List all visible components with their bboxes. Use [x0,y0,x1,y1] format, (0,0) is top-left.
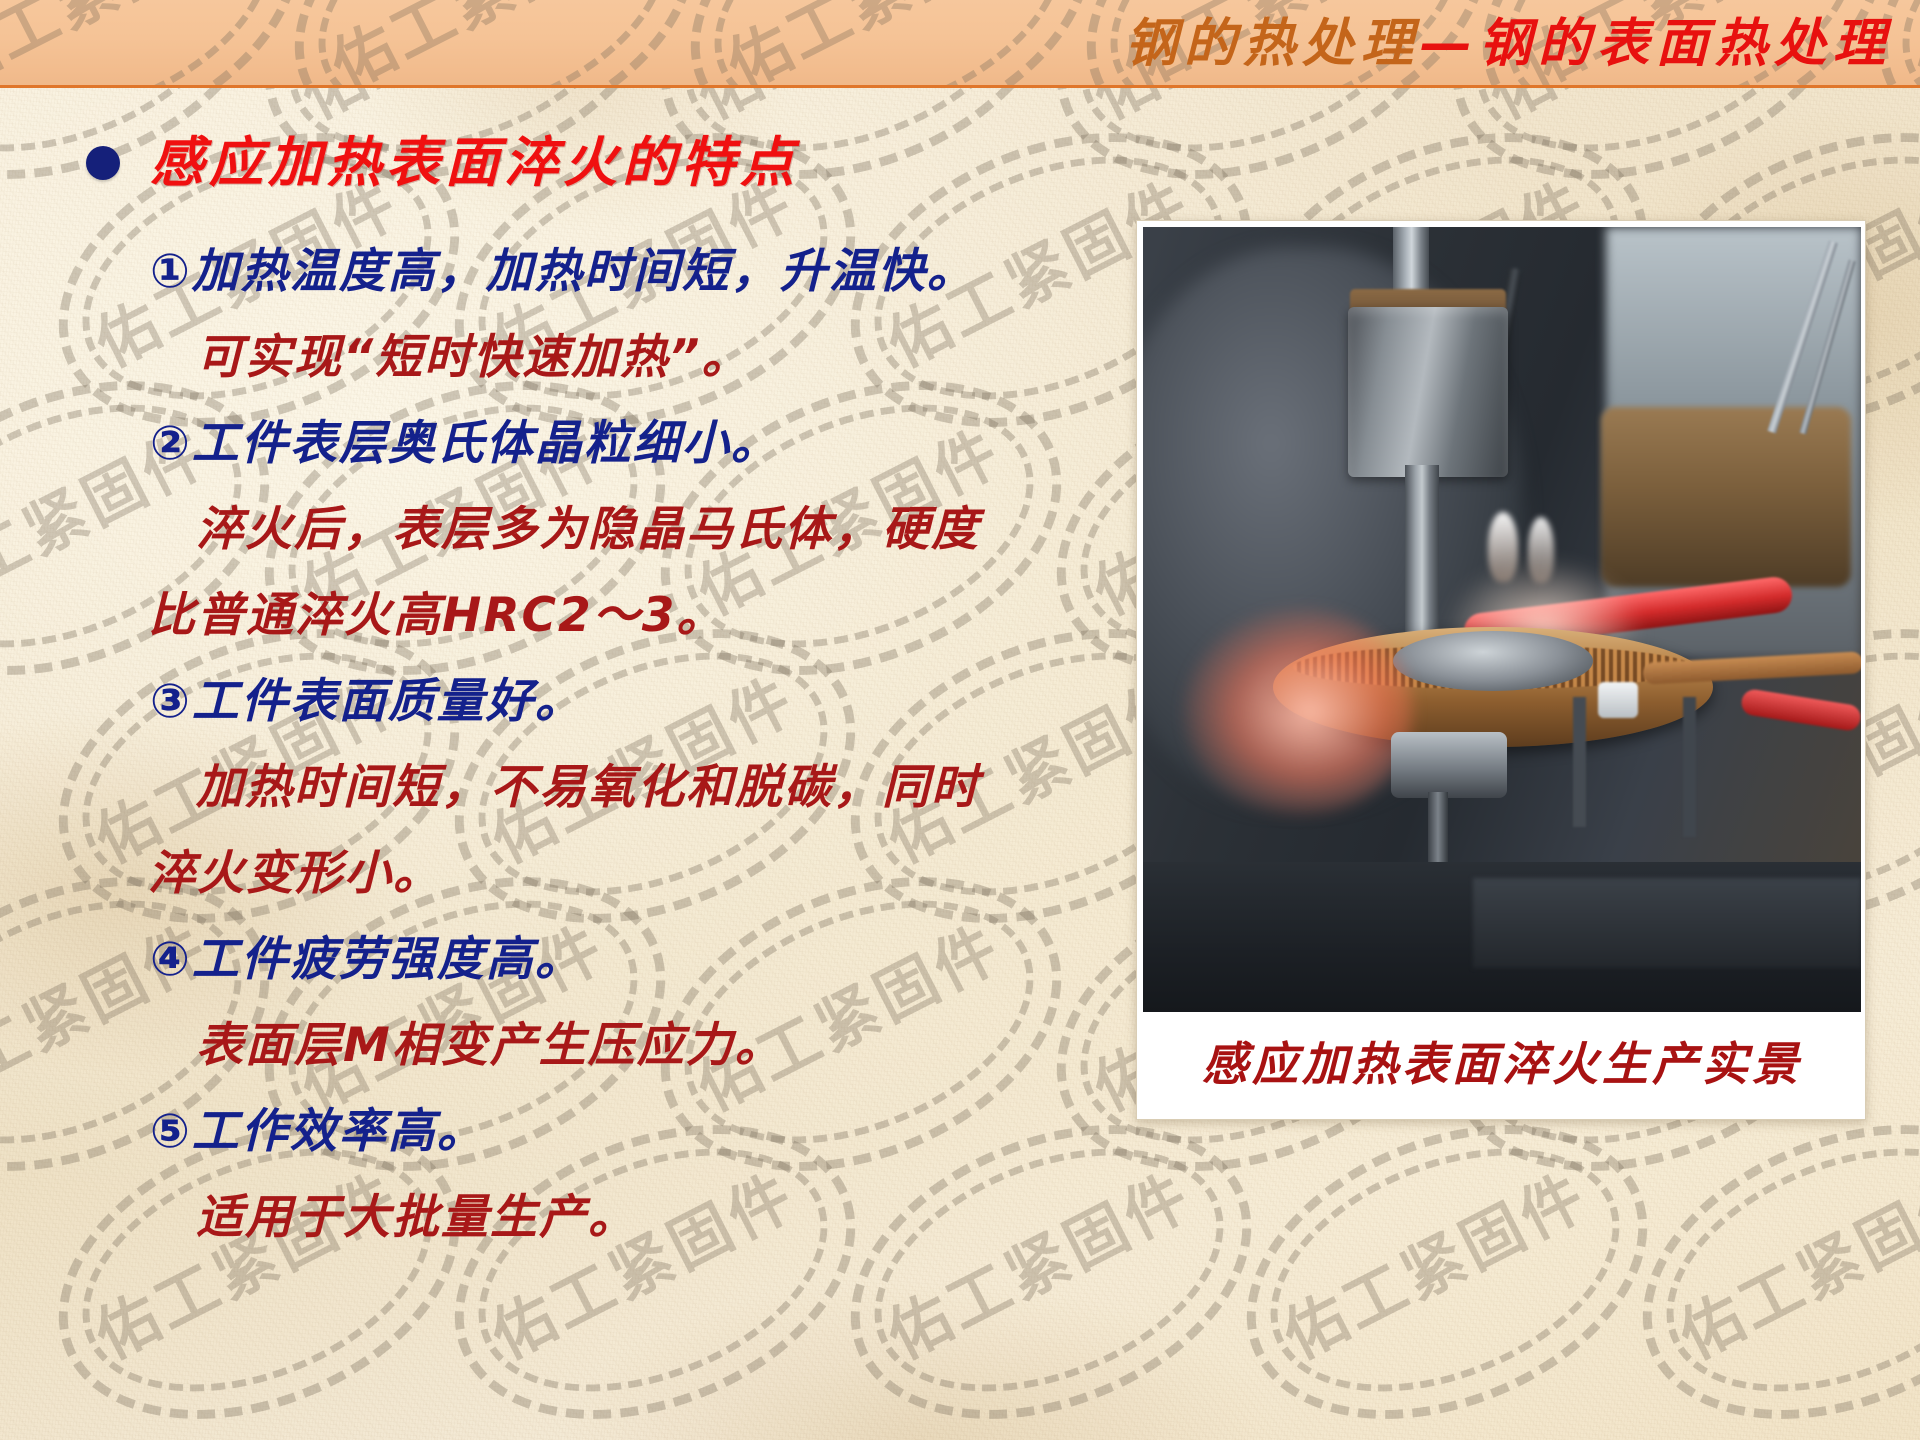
header-title-secondary: —钢的表面热处理 [1420,18,1892,70]
watermark-text: 佑工紧固件 [1898,0,1920,85]
photo-white-cap [1598,682,1638,718]
numbered-item: ④工件疲劳强度高。 [0,916,1010,1002]
section-heading: 感应加热表面淬火的特点 [86,136,799,190]
induction-hardening-photo [1143,227,1861,1012]
photo-base-nut [1391,732,1507,798]
body-line-list: ①加热温度高，加热时间短，升温快。可实现“短时快速加热”。②工件表层奥氏体晶粒细… [0,228,1010,1260]
explanation-line: 表面层M相变产生压应力。 [0,1002,1010,1088]
explanation-line: 可实现“短时快速加热”。 [0,314,1010,400]
watermark-tile: 佑工紧固件 [0,0,320,85]
photo-card: 感应加热表面淬火生产实景 [1136,220,1866,1120]
watermark-ring-outer [647,0,1135,85]
slide-header-bar: 佑工紧固件佑工紧固件佑工紧固件佑工紧固件佑工紧固件佑工紧固件 钢的热处理 —钢的… [0,0,1920,88]
watermark-ring-inner [283,0,703,85]
header-title-group: 钢的热处理 —钢的表面热处理 [1125,0,1892,88]
photo-post-b [1683,697,1696,837]
header-title-primary: 钢的热处理 [1125,18,1420,70]
watermark-ring-outer [251,0,739,85]
explanation-line: 适用于大批量生产。 [0,1174,1010,1260]
photo-gear-hub [1393,631,1593,691]
explanation-line: 比普通淬火高HRC2～3。 [0,572,1010,658]
watermark-ring-inner [679,0,1099,85]
photo-transformer [1601,407,1851,587]
watermark-ring-outer [0,0,343,85]
watermark-text: 佑工紧固件 [314,0,649,85]
watermark-text: 佑工紧固件 [710,0,1045,85]
photo-caption-box: 感应加热表面淬火生产实景 [1143,1015,1861,1113]
numbered-item: ②工件表层奥氏体晶粒细小。 [0,400,1010,486]
explanation-line: 淬火后，表层多为隐晶马氏体，硬度 [0,486,1010,572]
photo-caption: 感应加热表面淬火生产实景 [1202,1041,1802,1087]
photo-hex-fixture [1348,307,1508,477]
photo-floor-plate [1473,878,1861,968]
explanation-line: 加热时间短，不易氧化和脱碳，同时 [0,744,1010,830]
watermark-tile: 佑工紧固件 [672,0,1112,85]
filled-circle-bullet-icon [86,146,120,180]
photo-post-a [1573,697,1586,827]
section-title: 感应加热表面淬火的特点 [150,136,799,190]
watermark-ring-inner [0,0,307,85]
explanation-line: 淬火变形小。 [0,830,1010,916]
photo-glow-left [1183,607,1413,817]
numbered-item: ⑤工作效率高。 [0,1088,1010,1174]
watermark-text: 佑工紧固件 [0,0,252,85]
numbered-item: ①加热温度高，加热时间短，升温快。 [0,228,1010,314]
numbered-item: ③工件表面质量好。 [0,658,1010,744]
watermark-tile: 佑工紧固件 [276,0,716,85]
